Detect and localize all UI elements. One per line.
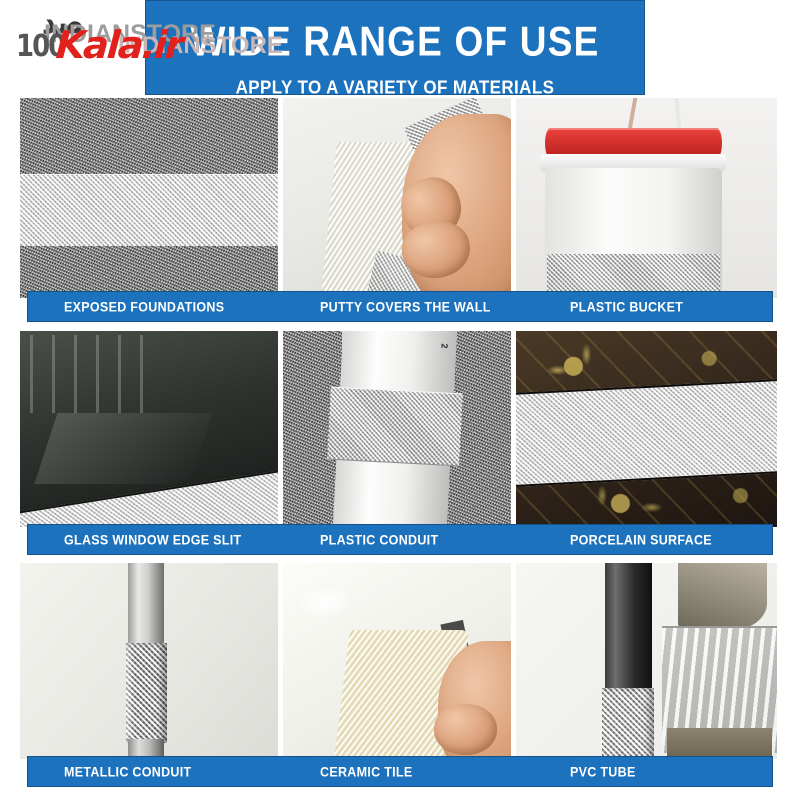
tape-wrap (126, 643, 167, 743)
tape-wrap (602, 688, 654, 759)
header-banner: WIDE RANGE OF USE APPLY TO A VARIETY OF … (145, 0, 645, 95)
tape-strip (20, 174, 278, 249)
image-pvc-tube (516, 563, 777, 759)
label-glass-window-edge-slit: GLASS WINDOW EDGE SLIT (28, 532, 320, 548)
row-1-label-banner: EXPOSED FOUNDATIONS PUTTY COVERS THE WAL… (27, 291, 773, 322)
tape-wrap (327, 386, 463, 465)
glass-reflection (34, 413, 212, 484)
label-plastic-conduit: PLASTIC CONDUIT (320, 532, 570, 548)
label-metallic-conduit: METALLIC CONDUIT (28, 764, 320, 780)
image-exposed-foundations (20, 98, 278, 298)
label-exposed-foundations: EXPOSED FOUNDATIONS (28, 299, 320, 315)
grid-row-2: 2 GLASS WINDOW EDGE SLIT PLASTIC CONDUIT… (0, 331, 800, 563)
label-pvc-tube: PVC TUBE (570, 764, 770, 780)
label-putty-covers-the-wall: PUTTY COVERS THE WALL (320, 299, 570, 315)
metal-pole-upper (128, 563, 164, 649)
pipe-marking-text: 2 (440, 343, 450, 348)
foil-shadow (667, 728, 771, 759)
watermark-number-text: 100 (16, 32, 64, 62)
row-2-image-strip: 2 (20, 331, 780, 527)
grid-row-3: METALLIC CONDUIT CERAMIC TILE PVC TUBE (0, 563, 800, 796)
image-metallic-conduit (20, 563, 278, 759)
row-2-label-banner: GLASS WINDOW EDGE SLIT PLASTIC CONDUIT P… (27, 524, 773, 555)
label-porcelain-surface: PORCELAIN SURFACE (570, 532, 770, 548)
finger-thumb (434, 704, 498, 755)
image-ceramic-tile (283, 563, 511, 759)
image-plastic-conduit: 2 (283, 331, 511, 527)
black-pvc-tube (605, 563, 652, 692)
railing-reflection (30, 335, 149, 413)
grid-row-1: EXPOSED FOUNDATIONS PUTTY COVERS THE WAL… (0, 98, 800, 331)
page-title: WIDE RANGE OF USE (146, 21, 644, 62)
tape-band (516, 379, 777, 488)
image-plastic-bucket (516, 98, 777, 298)
row-1-image-strip (20, 98, 780, 298)
watermark-arabic-text: صد (42, 6, 84, 40)
image-putty-covers-the-wall (283, 98, 511, 298)
row-3-image-strip (20, 563, 780, 759)
light-reflection (297, 587, 352, 618)
reflective-panel (678, 563, 767, 630)
page-subtitle: APPLY TO A VARIETY OF MATERIALS (146, 78, 644, 97)
image-porcelain-surface (516, 331, 777, 527)
row-3-label-banner: METALLIC CONDUIT CERAMIC TILE PVC TUBE (27, 756, 773, 787)
label-ceramic-tile: CERAMIC TILE (320, 764, 570, 780)
concrete-wall-upper (20, 98, 278, 174)
label-plastic-bucket: PLASTIC BUCKET (570, 299, 770, 315)
image-glass-window-edge-slit (20, 331, 278, 527)
